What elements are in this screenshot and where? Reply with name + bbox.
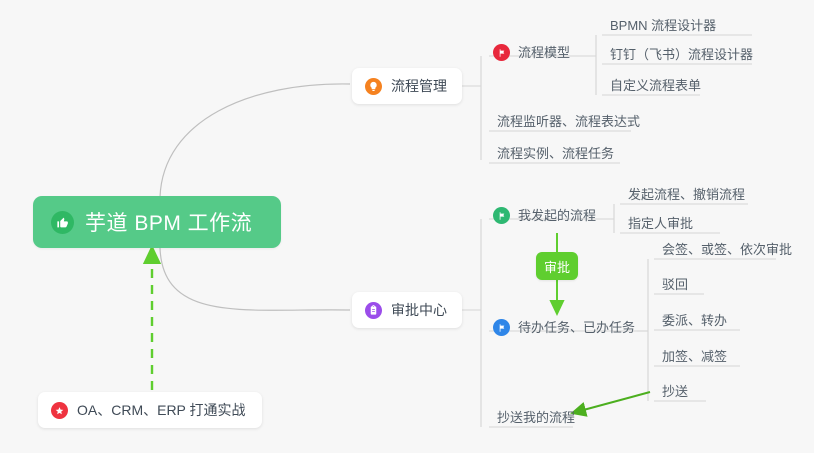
topic-countersign[interactable]: 会签、或签、依次审批 xyxy=(656,241,798,263)
topic-my-started-process[interactable]: 我发起的流程 xyxy=(491,207,602,229)
topic-label-process-model: 流程模型 xyxy=(518,44,570,61)
star-icon xyxy=(51,402,68,419)
topic-dingtalk-feishu-designer[interactable]: 钉钉（飞书）流程设计器 xyxy=(604,46,759,68)
topic-process-listener[interactable]: 流程监听器、流程表达式 xyxy=(491,113,646,135)
branch-node-process-management[interactable]: 流程管理 xyxy=(352,68,462,104)
topic-todo-done-tasks[interactable]: 待办任务、已办任务 xyxy=(491,319,641,341)
topic-cc-my-process[interactable]: 抄送我的流程 xyxy=(491,409,581,431)
curve-root-to-approval xyxy=(160,248,350,310)
topic-custom-process-form[interactable]: 自定义流程表单 xyxy=(604,77,707,99)
topic-add-remove-sign[interactable]: 加签、减签 xyxy=(656,348,733,370)
flag-icon xyxy=(493,207,510,224)
arrow-cc-to-cc-my-process xyxy=(576,392,650,412)
curve-root-to-process xyxy=(160,84,350,197)
callout-node-integration-practice[interactable]: OA、CRM、ERP 打通实战 xyxy=(38,392,262,428)
topic-assignee-approve[interactable]: 指定人审批 xyxy=(622,215,699,237)
mindmap-canvas: 芋道 BPM 工作流 流程管理 审批中心 流程模型 流程监听器、流程表达式 流程… xyxy=(0,0,814,453)
topic-cc[interactable]: 抄送 xyxy=(656,383,694,405)
flag-icon xyxy=(493,44,510,61)
topic-label-todo-done-tasks: 待办任务、已办任务 xyxy=(518,319,635,336)
root-node[interactable]: 芋道 BPM 工作流 xyxy=(33,196,281,248)
root-label: 芋道 BPM 工作流 xyxy=(85,207,252,237)
topic-bpmn-designer[interactable]: BPMN 流程设计器 xyxy=(604,17,722,39)
approve-badge[interactable]: 审批 xyxy=(536,252,578,280)
topic-reject[interactable]: 驳回 xyxy=(656,276,694,298)
branch-label-approval-center: 审批中心 xyxy=(391,300,447,320)
lightbulb-icon xyxy=(365,78,382,95)
branch-label-process-management: 流程管理 xyxy=(391,76,447,96)
branch-node-approval-center[interactable]: 审批中心 xyxy=(352,292,462,328)
clipboard-icon xyxy=(365,302,382,319)
topic-process-model[interactable]: 流程模型 xyxy=(491,44,576,66)
topic-delegate-transfer[interactable]: 委派、转办 xyxy=(656,312,733,334)
topic-start-cancel-process[interactable]: 发起流程、撤销流程 xyxy=(622,186,751,208)
topic-process-instance[interactable]: 流程实例、流程任务 xyxy=(491,145,620,167)
callout-label: OA、CRM、ERP 打通实战 xyxy=(77,400,246,420)
thumbs-up-icon xyxy=(51,211,74,234)
flag-icon xyxy=(493,319,510,336)
topic-label-my-started-process: 我发起的流程 xyxy=(518,207,596,224)
